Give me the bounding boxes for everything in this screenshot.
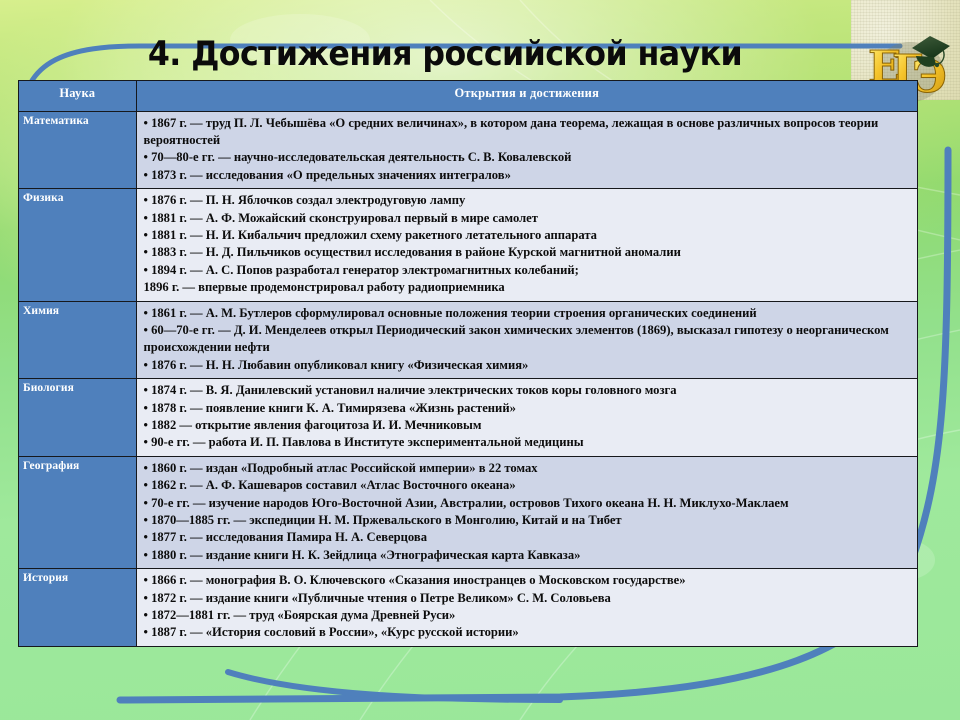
discovery-item: 70-е гг. — изучение народов Юго-Восточно… xyxy=(144,495,912,512)
table-row: История1866 г. — монография В. О. Ключев… xyxy=(19,569,917,646)
cell-science-5: География xyxy=(19,456,136,568)
discovery-item: 1876 г. — Н. Н. Любавин опубликовал книг… xyxy=(144,357,912,374)
discovery-item: 1862 г. — А. Ф. Кашеваров составил «Атла… xyxy=(144,477,912,494)
discovery-item: 1881 г. — Н. И. Кибальчич предложил схем… xyxy=(144,227,912,244)
discovery-item: 1870—1885 гг. — экспедиции Н. М. Пржевал… xyxy=(144,512,912,529)
discovery-item: 1881 г. — А. Ф. Можайский сконструировал… xyxy=(144,210,912,227)
cell-science-1: Математика xyxy=(19,111,136,189)
discovery-item: 1867 г. — труд П. Л. Чебышёва «О средних… xyxy=(144,115,912,150)
discovery-item: 1880 г. — издание книги Н. К. Зейдлица «… xyxy=(144,547,912,564)
table-row: Физика1876 г. — П. Н. Яблочков создал эл… xyxy=(19,189,917,301)
cell-discoveries-3: 1861 г. — А. М. Бутлеров сформулировал о… xyxy=(136,301,917,379)
discovery-item: 1883 г. — Н. Д. Пильчиков осуществил исс… xyxy=(144,244,912,261)
discovery-list: 1867 г. — труд П. Л. Чебышёва «О средних… xyxy=(144,115,912,185)
discovery-item: 1872—1881 гг. — труд «Боярская дума Древ… xyxy=(144,607,912,624)
discovery-list: 1866 г. — монография В. О. Ключевского «… xyxy=(144,572,912,642)
cell-discoveries-6: 1866 г. — монография В. О. Ключевского «… xyxy=(136,569,917,646)
cell-discoveries-4: 1874 г. — В. Я. Данилевский установил на… xyxy=(136,379,917,457)
column-header-discoveries: Открытия и достижения xyxy=(136,81,917,111)
discovery-list: 1876 г. — П. Н. Яблочков создал электрод… xyxy=(144,192,912,296)
discovery-item: 60—70-е гг. — Д. И. Менделеев открыл Пер… xyxy=(144,322,912,357)
discovery-item: 1894 г. — А. С. Попов разработал генерат… xyxy=(144,262,912,279)
table-row: Химия1861 г. — А. М. Бутлеров сформулиро… xyxy=(19,301,917,379)
discovery-list: 1860 г. — издан «Подробный атлас Российс… xyxy=(144,460,912,564)
achievements-table: Наука Открытия и достижения Математика18… xyxy=(18,80,918,647)
discovery-item: 1882 — открытие явления фагоцитоза И. И.… xyxy=(144,417,912,434)
cell-discoveries-1: 1867 г. — труд П. Л. Чебышёва «О средних… xyxy=(136,111,917,189)
discovery-item: 1877 г. — исследования Памира Н. А. Севе… xyxy=(144,529,912,546)
cell-discoveries-2: 1876 г. — П. Н. Яблочков создал электрод… xyxy=(136,189,917,301)
table-header-row: Наука Открытия и достижения xyxy=(19,81,917,111)
table-body: Математика1867 г. — труд П. Л. Чебышёва … xyxy=(19,111,917,646)
cell-science-4: Биология xyxy=(19,379,136,457)
discovery-item: 1887 г. — «История сословий в России», «… xyxy=(144,624,912,641)
column-header-science: Наука xyxy=(19,81,136,111)
page-title: 4. Достижения российской науки xyxy=(31,34,859,74)
cell-discoveries-5: 1860 г. — издан «Подробный атлас Российс… xyxy=(136,456,917,568)
discovery-item: 1873 г. — исследования «О предельных зна… xyxy=(144,167,912,184)
discovery-item: 1866 г. — монография В. О. Ключевского «… xyxy=(144,572,912,589)
cell-science-6: История xyxy=(19,569,136,646)
discovery-item: 1876 г. — П. Н. Яблочков создал электрод… xyxy=(144,192,912,209)
discovery-item: 90-е гг. — работа И. П. Павлова в Инстит… xyxy=(144,434,912,451)
discovery-item: 1860 г. — издан «Подробный атлас Российс… xyxy=(144,460,912,477)
slide-canvas: Е Г Э 4. Достижения российской науки Нау… xyxy=(0,0,960,720)
table-row: Математика1867 г. — труд П. Л. Чебышёва … xyxy=(19,111,917,189)
discovery-item: 1872 г. — издание книги «Публичные чтени… xyxy=(144,590,912,607)
cell-science-3: Химия xyxy=(19,301,136,379)
discovery-item: 1874 г. — В. Я. Данилевский установил на… xyxy=(144,382,912,399)
cell-science-2: Физика xyxy=(19,189,136,301)
discovery-item: 1878 г. — появление книги К. А. Тимирязе… xyxy=(144,400,912,417)
discovery-list: 1874 г. — В. Я. Данилевский установил на… xyxy=(144,382,912,452)
discovery-item: 70—80-е гг. — научно-исследовательская д… xyxy=(144,149,912,166)
discovery-item: 1861 г. — А. М. Бутлеров сформулировал о… xyxy=(144,305,912,322)
table-row: Биология1874 г. — В. Я. Данилевский уста… xyxy=(19,379,917,457)
table-row: География1860 г. — издан «Подробный атла… xyxy=(19,456,917,568)
discovery-list: 1861 г. — А. М. Бутлеров сформулировал о… xyxy=(144,305,912,375)
discovery-item: 1896 г. — впервые продемонстрировал рабо… xyxy=(144,279,912,296)
